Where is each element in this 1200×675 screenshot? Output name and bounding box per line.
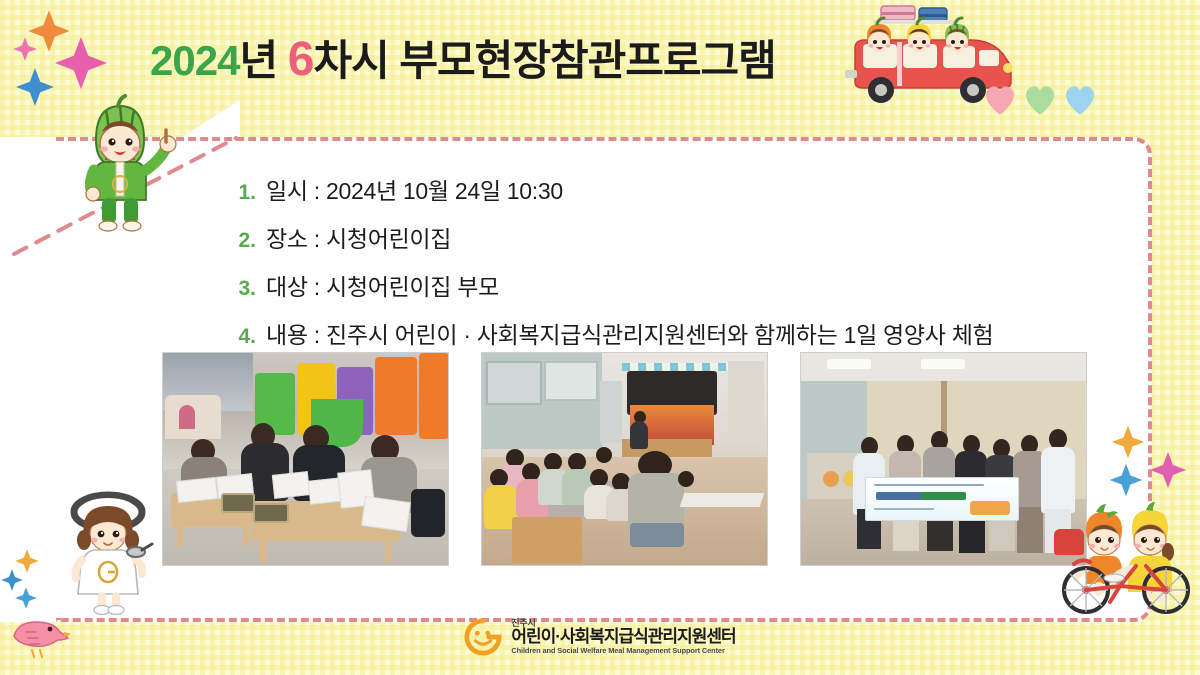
footer-org-english: Children and Social Welfare Meal Managem… [511, 647, 735, 655]
list-item-text: 일시 : 2024년 10월 24일 10:30 [266, 172, 563, 206]
photo-row [162, 352, 1087, 566]
heart-blue-icon [1062, 82, 1098, 116]
poster-root: 2024년 6차시 부모현장참관프로그램 1. 일시 : 2024년 10월 2… [0, 0, 1200, 675]
footer-logo: 진주시 어린이·사회복지급식관리지원센터 Children and Social… [0, 618, 1200, 661]
list-item: 3. 대상 : 시청어린이집 부모 [226, 268, 993, 302]
list-item-number: 2. [226, 229, 256, 253]
title-year: 2024 [150, 37, 239, 84]
list-item-text: 장소 : 시청어린이집 [266, 220, 451, 254]
star-pink-small-icon [12, 36, 38, 62]
photo-group-with-banner [800, 352, 1087, 566]
list-item-number: 1. [226, 181, 256, 205]
heart-pink-icon: .hp::before,.hp::after{background:#f7a6b… [986, 86, 1016, 113]
list-item: 2. 장소 : 시청어린이집 [226, 220, 993, 254]
heart-green-icon [1022, 82, 1058, 116]
photo-classroom-children [481, 352, 768, 566]
list-item-text: 대상 : 시청어린이집 부모 [266, 268, 499, 302]
star-orange-icon [26, 8, 72, 54]
kids-bus-illustration [845, 2, 1030, 106]
list-item-text: 내용 : 진주시 어린이 · 사회복지급식관리지원센터와 함께하는 1일 영양사… [266, 316, 993, 350]
star-magenta-right-icon [1148, 450, 1188, 490]
star-magenta-icon [52, 34, 110, 92]
smiley-logo-icon [464, 618, 502, 656]
list-item: 4. 내용 : 진주시 어린이 · 사회복지급식관리지원센터와 함께하는 1일 … [226, 316, 993, 350]
title-year-suffix: 년 [239, 37, 277, 84]
photo-banner [865, 477, 1019, 521]
photo-parents-at-tables [162, 352, 449, 566]
info-list: 1. 일시 : 2024년 10월 24일 10:30 2. 장소 : 시청어린… [226, 172, 993, 364]
heart-pink-icon [982, 82, 1018, 116]
list-item-number: 3. [226, 277, 256, 301]
title-rest: 차시 부모현장참관프로그램 [313, 37, 775, 84]
list-item-number: 4. [226, 325, 256, 349]
list-item: 1. 일시 : 2024년 10월 24일 10:30 [226, 172, 993, 206]
footer-org-name: 어린이·사회복지급식관리지원센터 [511, 628, 735, 646]
page-title: 2024년 6차시 부모현장참관프로그램 [150, 36, 776, 84]
title-session-number: 6 [288, 33, 314, 86]
